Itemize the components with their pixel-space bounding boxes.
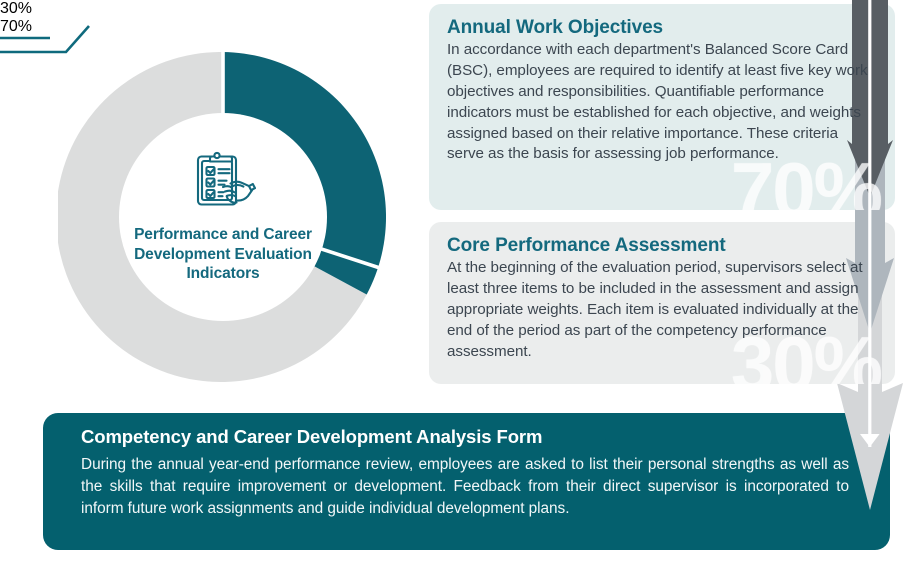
panel-1-body: In accordance with each department's Bal… xyxy=(447,40,877,165)
donut-hole xyxy=(119,113,327,321)
bottom-banner-competency-analysis-form: Competency and Career Development Analys… xyxy=(43,413,890,550)
donut-chart-svg xyxy=(58,52,388,382)
panel-1-title: Annual Work Objectives xyxy=(447,17,877,38)
donut-chart: Performance and Career Development Evalu… xyxy=(58,52,388,382)
bottom-banner-title: Competency and Career Development Analys… xyxy=(81,426,858,448)
panel-2-title: Core Performance Assessment xyxy=(447,235,877,256)
panel-1-content: Annual Work Objectives In accordance wit… xyxy=(429,4,895,165)
panel-2-body: At the beginning of the evaluation perio… xyxy=(447,258,877,362)
callout-70-leader-line xyxy=(0,20,106,82)
panel-2-content: Core Performance Assessment At the begin… xyxy=(429,222,895,362)
callout-30-label: 30% xyxy=(0,0,32,17)
bottom-banner-body: During the annual year-end performance r… xyxy=(81,454,849,520)
info-panel-core-performance-assessment: 30% Core Performance Assessment At the b… xyxy=(429,222,895,384)
info-panel-annual-work-objectives: 70% Annual Work Objectives In accordance… xyxy=(429,4,895,210)
